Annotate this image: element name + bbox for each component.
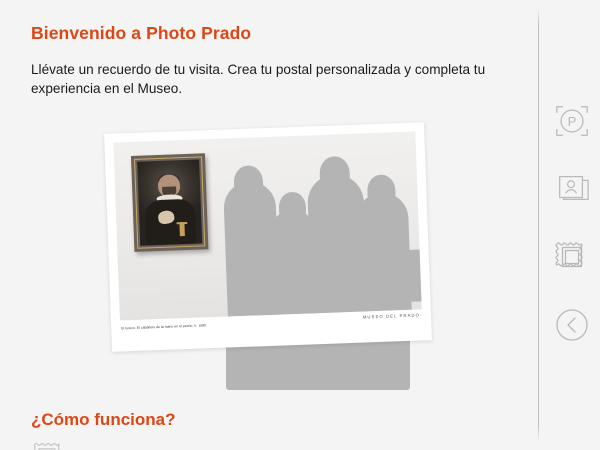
postcard-card[interactable]: El Greco. El caballero de la mano en el … (104, 122, 432, 352)
right-sidebar: P (538, 0, 600, 450)
svg-text:P: P (568, 114, 577, 129)
back-icon[interactable] (552, 305, 592, 345)
sidebar-divider (538, 8, 539, 442)
howto-title: ¿Cómo funciona? (31, 410, 175, 430)
page-title: Bienvenido a Photo Prado (31, 23, 251, 44)
app-root: Bienvenido a Photo Prado Llévate un recu… (0, 0, 600, 450)
painting-el-greco (131, 153, 208, 252)
postcard-photo (113, 132, 421, 321)
scan-icon[interactable]: P (552, 101, 592, 141)
postcard-caption: El Greco. El caballero de la mano en el … (121, 323, 206, 330)
main-content: Bienvenido a Photo Prado Llévate un recu… (0, 0, 538, 450)
photos-icon[interactable] (552, 168, 592, 208)
intro-paragraph: Llévate un recuerdo de tu visita. Crea t… (31, 60, 511, 98)
museum-logo-text: MUSEO DEL PRADO (363, 312, 420, 319)
stamp-icon[interactable] (552, 237, 592, 277)
postcard-stage: El Greco. El caballero de la mano en el … (108, 128, 448, 390)
howto-stamp-icon (32, 440, 62, 450)
